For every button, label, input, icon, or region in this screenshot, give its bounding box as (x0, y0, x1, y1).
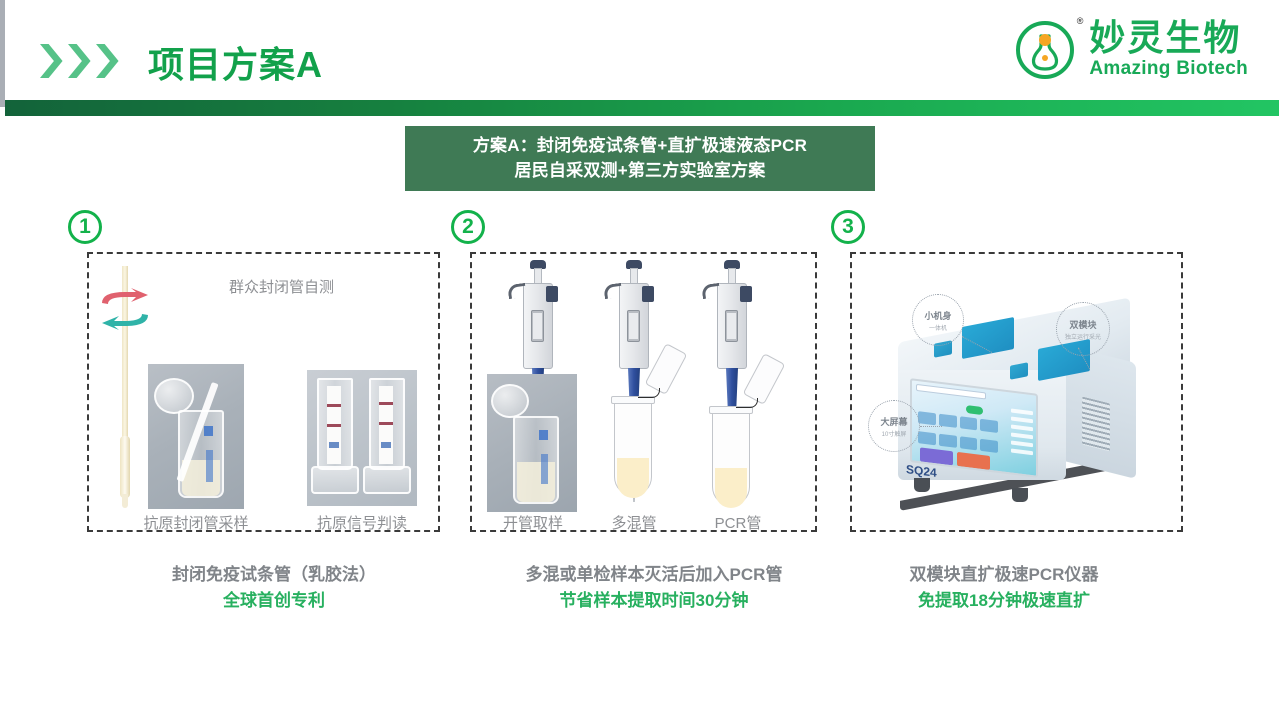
instrument-touchscreen[interactable] (910, 378, 1038, 478)
scheme-banner: 方案A：封闭免疫试条管+直扩极速液态PCR 居民自采双测+第三方实验室方案 (405, 126, 875, 191)
bottom-caption-2-line-2: 节省样本提取时间30分钟 (450, 588, 858, 614)
step-1-inner-label: 群众封闭管自测 (229, 276, 334, 297)
vent-grille-icon (1082, 397, 1110, 452)
callout-2: 双模块 独立运行采光 (1056, 302, 1110, 356)
flask-circle-logo-icon: ® (1014, 16, 1080, 82)
banner-line-2: 居民自采双测+第三方实验室方案 (515, 159, 766, 184)
bottom-caption-1: 封闭免疫试条管（乳胶法） 全球首创专利 (70, 562, 478, 615)
step-2-caption-3: PCR管 (682, 512, 794, 533)
company-logo: ® 妙灵生物 Amazing Biotech (1014, 16, 1248, 82)
callout-3: 大屏幕 10寸触屏 (868, 400, 920, 452)
slide-header: 项目方案A ® 妙灵生物 Amazing Biotech (0, 0, 1284, 100)
callout-1-sub: 一体机 (929, 323, 947, 332)
callout-1: 小机身 一体机 (912, 294, 964, 346)
step-3-box: SQ24 小机身 一体机 双模块 独立运行采光 大屏 (850, 252, 1183, 532)
logo-text-en: Amazing Biotech (1089, 59, 1248, 78)
mixing-tube-icon (611, 396, 655, 500)
callout-2-sub: 独立运行采光 (1065, 332, 1101, 341)
slide-root: 项目方案A ® 妙灵生物 Amazing Biotech 方案A：封闭免疫试条管… (0, 0, 1284, 714)
bottom-caption-2-line-1: 多混或单检样本灭活后加入PCR管 (450, 562, 858, 588)
step-1-caption-1: 抗原封闭管采样 (129, 512, 263, 533)
callout-2-title: 双模块 (1069, 318, 1096, 331)
page-title: 项目方案A (148, 36, 323, 88)
open-tube-sampling-photo (487, 374, 577, 512)
step-number-3: 3 (831, 210, 865, 244)
logo-text-cn: 妙灵生物 (1089, 20, 1248, 56)
bottom-caption-3: 双模块直扩极速PCR仪器 免提取18分钟极速直扩 (830, 562, 1178, 615)
swab-with-rotation-arrows-icon (117, 266, 133, 511)
chevron-right-triple-icon (40, 44, 120, 78)
bottom-caption-3-line-2: 免提取18分钟极速直扩 (830, 588, 1178, 614)
bottom-caption-1-line-2: 全球首创专利 (70, 588, 478, 614)
step-1-caption-2: 抗原信号判读 (295, 512, 429, 533)
step-2-box: 开管取样 多混管 PCR管 (470, 252, 817, 532)
bottom-caption-3-line-1: 双模块直扩极速PCR仪器 (830, 562, 1178, 588)
registered-mark: ® (1077, 16, 1084, 26)
callout-1-title: 小机身 (924, 309, 951, 322)
callout-3-title: 大屏幕 (880, 415, 907, 428)
sample-tube-photo (148, 364, 244, 509)
pcr-instrument-photo: SQ24 小机身 一体机 双模块 独立运行采光 大屏 (876, 292, 1166, 497)
step-1-box: 群众封闭管自测 (87, 252, 440, 532)
step-2-caption-2: 多混管 (578, 512, 690, 533)
bottom-caption-1-line-1: 封闭免疫试条管（乳胶法） (70, 562, 478, 588)
bottom-caption-2: 多混或单检样本灭活后加入PCR管 节省样本提取时间30分钟 (450, 562, 858, 615)
test-strip-tubes-photo (307, 370, 417, 506)
banner-line-1: 方案A：封闭免疫试条管+直扩极速液态PCR (473, 134, 807, 159)
step-2-caption-1: 开管取样 (477, 512, 589, 533)
step-number-2: 2 (451, 210, 485, 244)
header-divider (5, 100, 1279, 116)
callout-3-sub: 10寸触屏 (882, 429, 907, 438)
pcr-tube-icon (709, 406, 753, 510)
step-number-1: 1 (68, 210, 102, 244)
